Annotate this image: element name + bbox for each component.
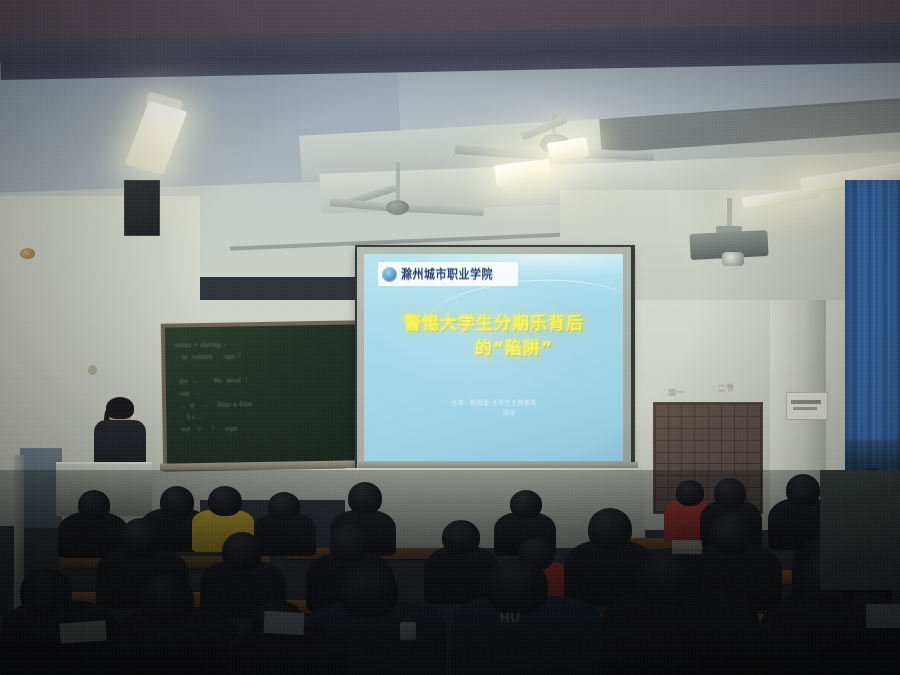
seating-chart-cell (722, 429, 734, 440)
slide-logo-plate: 滁州城市职业学院 (378, 262, 518, 286)
seating-chart-cell (735, 441, 747, 452)
audience-member-head (486, 558, 548, 614)
audience-member-head (786, 474, 820, 506)
audience-member-head (160, 486, 194, 518)
seating-chart-cell (709, 429, 721, 440)
exit-sign-text-line (791, 400, 821, 404)
seating-chart-cell (709, 441, 721, 452)
seating-chart-cell (722, 464, 734, 475)
seating-chart-cell (748, 476, 760, 487)
seating-chart-cell (682, 441, 694, 452)
wall-dark-corner (820, 470, 900, 590)
slide-logo-text: 滁州城市职业学院 (401, 265, 493, 283)
seating-chart-cell (682, 417, 694, 428)
window-curtain-blue[interactable] (845, 180, 900, 480)
seating-chart-cell (669, 453, 681, 464)
audience-member-head (330, 524, 370, 562)
seating-chart-cell (656, 488, 668, 499)
seating-chart-poster (653, 402, 763, 514)
seating-chart-cell (669, 405, 681, 416)
audience-member-head (208, 486, 242, 516)
seating-chart-cell (735, 417, 747, 428)
seating-chart-cell (695, 417, 707, 428)
seating-chart-cell (748, 453, 760, 464)
audience-member-head (268, 492, 300, 520)
seating-chart-cell (656, 417, 668, 428)
seating-chart-cell (656, 476, 668, 487)
seating-chart-cell (669, 441, 681, 452)
seating-chart-cell (669, 417, 681, 428)
audience-member-head (714, 478, 746, 508)
seating-chart-cell (735, 464, 747, 475)
seating-chart-cell (722, 417, 734, 428)
audience-member-head (20, 568, 72, 616)
jacket-text-hu: HU (500, 610, 530, 624)
seating-chart-cell (695, 429, 707, 440)
seating-chart-cell (735, 453, 747, 464)
audience-member-head (710, 514, 754, 554)
audience-member-head (120, 518, 162, 558)
seating-chart-cell (722, 441, 734, 452)
seating-chart-cell (695, 405, 707, 416)
seating-chart-cell (722, 453, 734, 464)
slide-subtitle-line-1: 主讲：院团委·大学生主题教育 (376, 399, 612, 409)
seating-chart-cell (656, 453, 668, 464)
seating-chart-cell (709, 417, 721, 428)
wall-label-left: 加一 (668, 387, 684, 398)
seating-chart-cell (695, 453, 707, 464)
paper-on-desk (59, 620, 106, 643)
paper-on-desk (263, 611, 304, 635)
seating-chart-cell (709, 405, 721, 416)
audience-member-head (588, 508, 632, 550)
audience-member-head (348, 482, 382, 514)
lecture-hall-photo: notes + during - in relates say ? for ..… (0, 0, 900, 675)
audience-member-head (510, 490, 542, 518)
audience-member-head (442, 520, 480, 554)
blackboard-chalk-writing: notes + during - in relates say ? for ..… (165, 324, 359, 465)
seating-chart-cell (735, 405, 747, 416)
wall-knob-fixture (20, 248, 35, 259)
audience-member-head (78, 490, 110, 520)
wall-label-right: 二节 (718, 383, 734, 394)
seating-chart-cell (709, 453, 721, 464)
projection-screen: 滁州城市职业学院 警惕大学生分期乐背后 的“陷阱” 主讲：院团委·大学生主题教育… (364, 254, 623, 461)
paper-on-desk (866, 604, 900, 628)
slide-subtitle-line-2: 活动 (376, 409, 612, 419)
seating-chart-cell (709, 464, 721, 475)
exit-sign-subtext-line (793, 407, 817, 410)
seating-chart-cell (682, 453, 694, 464)
jacket-badge (400, 622, 416, 640)
paper-on-desk (672, 540, 702, 554)
presenter-hair (106, 397, 134, 419)
seating-chart-cell (748, 405, 760, 416)
ceiling-fan-left-hub (386, 200, 409, 215)
seating-chart-cell (748, 441, 760, 452)
slide-title: 警惕大学生分期乐背后 的“陷阱” (376, 312, 612, 362)
audience-member-head (638, 548, 702, 606)
seating-chart-cell (656, 405, 668, 416)
slide-title-line-1: 警惕大学生分期乐背后 (376, 312, 612, 337)
wall-speaker-box (124, 180, 160, 236)
seating-chart-cell (695, 464, 707, 475)
projector-lens (722, 252, 744, 266)
audience-member-head (222, 532, 262, 570)
seating-chart-cell (748, 429, 760, 440)
slide-title-line-2: 的“陷阱” (376, 337, 612, 362)
seating-chart-cell (656, 464, 668, 475)
seating-chart-cell (656, 441, 668, 452)
audience-member-head (140, 574, 194, 624)
ceiling-fan-left-rod (396, 162, 400, 204)
seating-chart-cell (722, 405, 734, 416)
exit-sign (786, 392, 828, 420)
audience-member-head (676, 480, 704, 506)
seating-chart-cell (682, 405, 694, 416)
seating-chart-cell (669, 429, 681, 440)
audience-member-head (340, 566, 398, 618)
seating-chart-cell (682, 464, 694, 475)
slide-subtitle: 主讲：院团委·大学生主题教育 活动 (376, 399, 612, 419)
seating-chart-cell (748, 464, 760, 475)
seating-chart-cell (748, 488, 760, 499)
seating-chart-cell (656, 429, 668, 440)
seating-chart-cell (735, 429, 747, 440)
seating-chart-cell (695, 441, 707, 452)
wall-smudge (88, 365, 97, 375)
university-emblem-icon (382, 267, 397, 282)
seating-chart-cell (669, 464, 681, 475)
seating-chart-cell (682, 429, 694, 440)
blackboard: notes + during - in relates say ? for ..… (165, 324, 359, 465)
seating-chart-cell (748, 417, 760, 428)
